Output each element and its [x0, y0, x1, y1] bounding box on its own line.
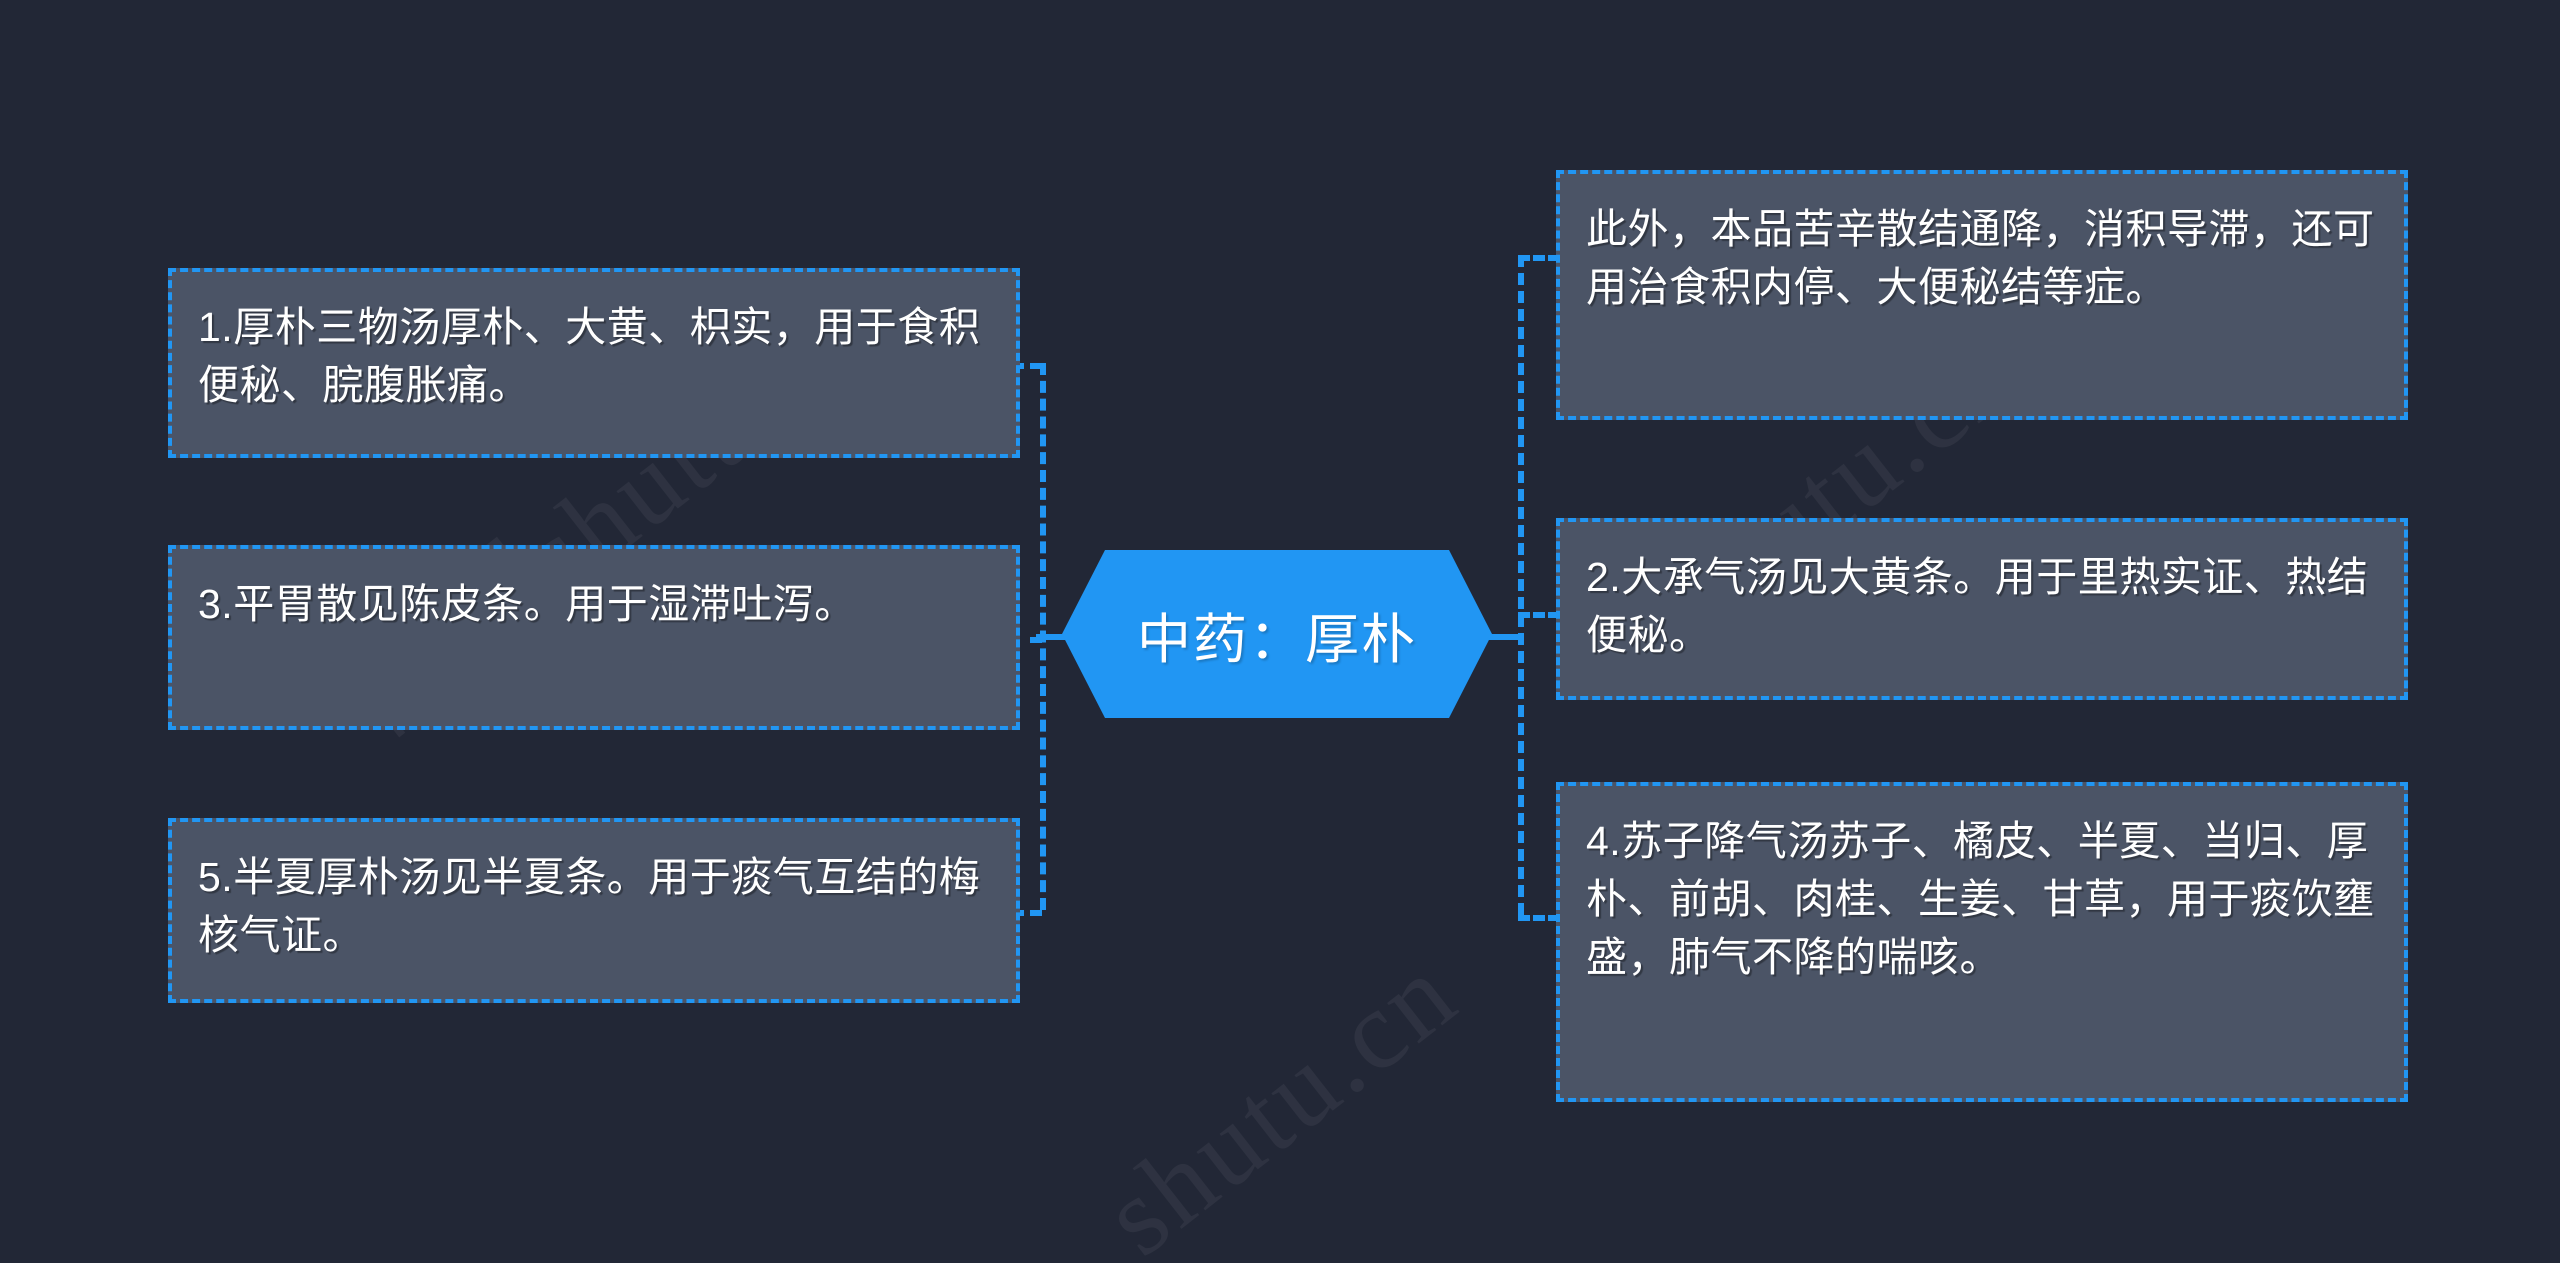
mindmap-node-extra[interactable]: 此外，本品苦辛散结通降，消积导滞，还可用治食积内停、大便秘结等症。	[1556, 170, 2408, 420]
mindmap-canvas: 树图shutu.cn shutu.cn shutu.cn 1.厚朴三物汤厚朴、大…	[0, 0, 2560, 1263]
mindmap-root-node[interactable]: 中药：厚朴	[1062, 550, 1492, 718]
mindmap-node-5[interactable]: 5.半夏厚朴汤见半夏条。用于痰气互结的梅核气证。	[168, 818, 1020, 1003]
right-stub-node-4	[1518, 915, 1560, 921]
left-trunk-line	[1040, 363, 1046, 910]
right-trunk-line	[1518, 255, 1524, 915]
mindmap-node-1[interactable]: 1.厚朴三物汤厚朴、大黄、枳实，用于食积便秘、脘腹胀痛。	[168, 268, 1020, 458]
mindmap-node-3[interactable]: 3.平胃散见陈皮条。用于湿滞吐泻。	[168, 545, 1020, 730]
right-stub-node-2	[1518, 612, 1560, 618]
watermark-text: shutu.cn	[1080, 929, 1481, 1263]
mindmap-node-4[interactable]: 4.苏子降气汤苏子、橘皮、半夏、当归、厚朴、前胡、肉桂、生姜、甘草，用于痰饮壅盛…	[1556, 782, 2408, 1102]
right-stub-node-extra	[1518, 255, 1560, 261]
mindmap-node-2[interactable]: 2.大承气汤见大黄条。用于里热实证、热结便秘。	[1556, 518, 2408, 700]
